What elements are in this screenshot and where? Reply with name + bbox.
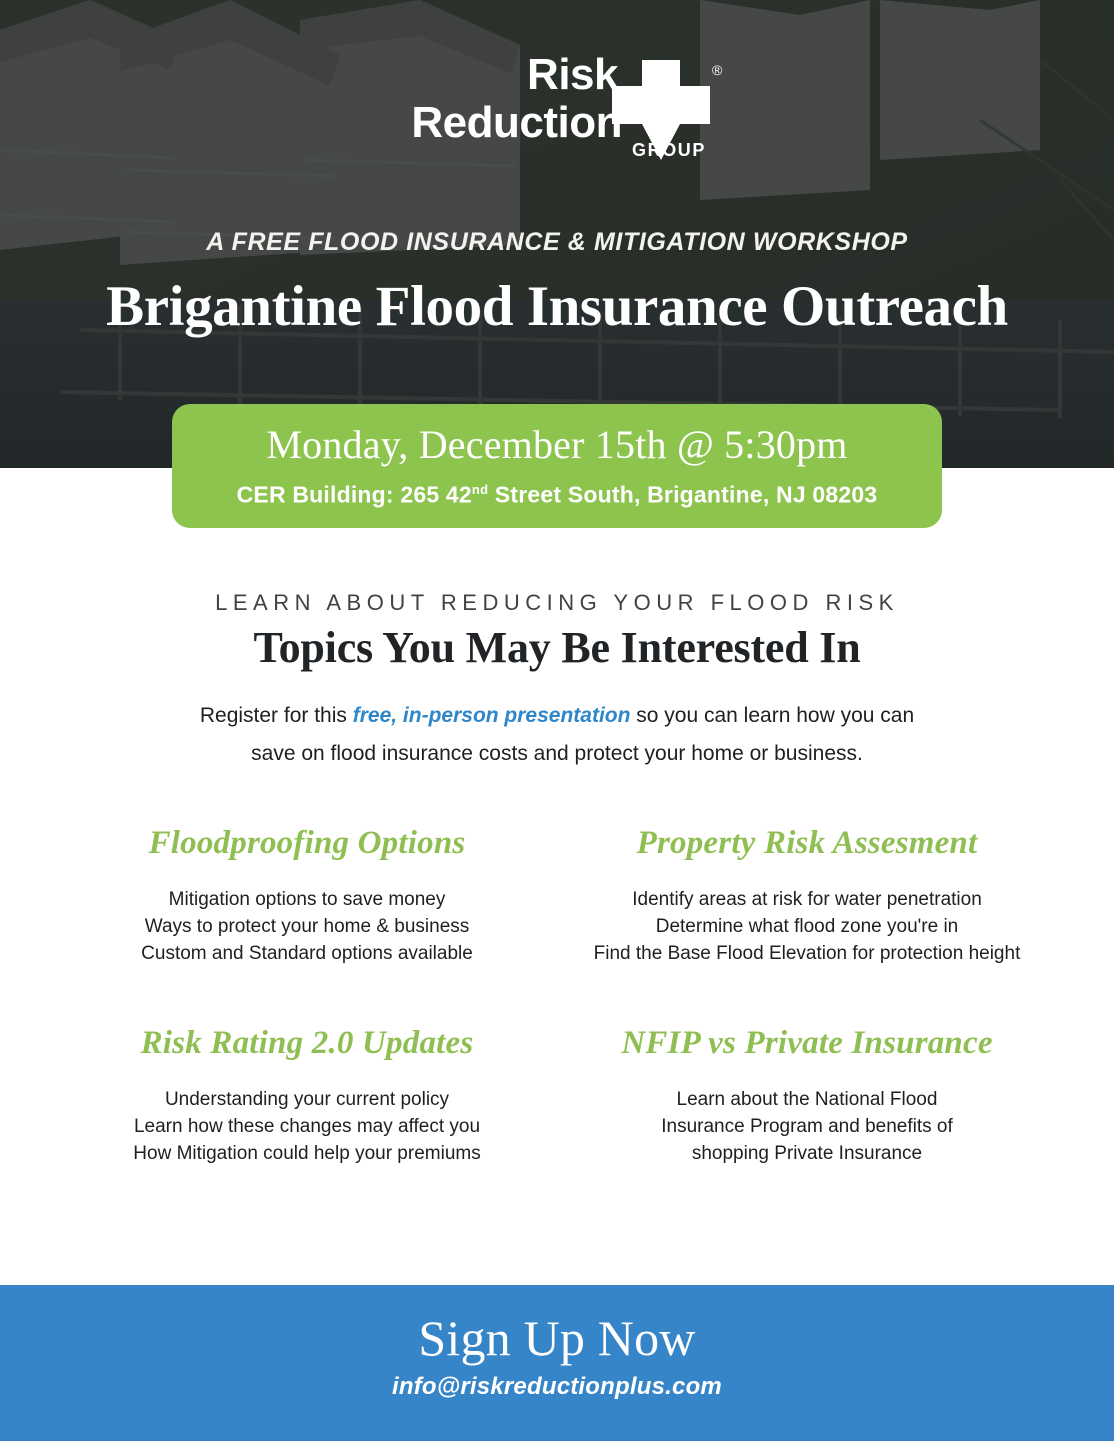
topic-line: Learn about the National Flood	[571, 1086, 1043, 1113]
topic-title: NFIP vs Private Insurance	[571, 1025, 1043, 1062]
topic-bullets: Understanding your current policy Learn …	[71, 1086, 543, 1167]
signup-footer: Sign Up Now info@riskreductionplus.com	[0, 1285, 1114, 1441]
page-title: Brigantine Flood Insurance Outreach	[0, 274, 1114, 340]
brand-logo: Risk Reduction ® GROUP	[0, 52, 1114, 172]
topic-line: Find the Base Flood Elevation for protec…	[571, 940, 1043, 967]
topic-line: Identify areas at risk for water penetra…	[571, 886, 1043, 913]
topic-property-risk-assesment: Property Risk Assesment Identify areas a…	[557, 825, 1057, 967]
logo-line-reduction: Reduction	[372, 100, 624, 146]
intro-paragraph: Register for this free, in-person presen…	[177, 697, 937, 773]
topic-line: Understanding your current policy	[71, 1086, 543, 1113]
venue-suffix: Street South, Brigantine, NJ 08203	[488, 482, 877, 508]
registered-trademark-icon: ®	[712, 62, 722, 78]
section-eyebrow: LEARN ABOUT REDUCING YOUR FLOOD RISK	[0, 590, 1114, 616]
event-date: Monday, December 15th @ 5:30pm	[172, 420, 942, 470]
topic-bullets: Mitigation options to save money Ways to…	[71, 886, 543, 967]
topic-line: Insurance Program and benefits of	[571, 1113, 1043, 1140]
venue-ordinal: nd	[472, 482, 488, 497]
topic-risk-rating-2-0-updates: Risk Rating 2.0 Updates Understanding yo…	[57, 1025, 557, 1167]
hero-banner: Risk Reduction ® GROUP A FREE FLOOD INSU…	[0, 0, 1114, 468]
topic-line: How Mitigation could help your premiums	[71, 1140, 543, 1167]
contact-email-link[interactable]: info@riskreductionplus.com	[392, 1373, 722, 1401]
intro-highlight: free, in-person presentation	[353, 704, 631, 727]
topic-line: Mitigation options to save money	[71, 886, 543, 913]
intro-text-before: Register for this	[200, 704, 353, 727]
topic-bullets: Identify areas at risk for water penetra…	[571, 886, 1043, 967]
topic-line: Ways to protect your home & business	[71, 913, 543, 940]
topic-title: Floodproofing Options	[71, 825, 543, 862]
event-date-banner: Monday, December 15th @ 5:30pm CER Build…	[172, 404, 942, 528]
topic-bullets: Learn about the National Flood Insurance…	[571, 1086, 1043, 1167]
hero-kicker: A FREE FLOOD INSURANCE & MITIGATION WORK…	[0, 228, 1114, 257]
event-venue: CER Building: 265 42nd Street South, Bri…	[172, 474, 942, 511]
topic-nfip-vs-private-insurance: NFIP vs Private Insurance Learn about th…	[557, 1025, 1057, 1167]
topic-line: Determine what flood zone you're in	[571, 913, 1043, 940]
section-title: Topics You May Be Interested In	[0, 622, 1114, 673]
topic-title: Property Risk Assesment	[571, 825, 1043, 862]
topics-grid: Floodproofing Options Mitigation options…	[57, 825, 1057, 1167]
topic-line: Custom and Standard options available	[71, 940, 543, 967]
logo-group-label: GROUP	[632, 140, 706, 161]
topic-title: Risk Rating 2.0 Updates	[71, 1025, 543, 1062]
topic-line: shopping Private Insurance	[571, 1140, 1043, 1167]
main-content: LEARN ABOUT REDUCING YOUR FLOOD RISK Top…	[0, 528, 1114, 1167]
signup-title: Sign Up Now	[0, 1309, 1114, 1367]
venue-prefix: CER Building: 265 42	[237, 482, 472, 508]
topic-floodproofing-options: Floodproofing Options Mitigation options…	[57, 825, 557, 967]
logo-line-risk: Risk	[372, 52, 624, 98]
topic-line: Learn how these changes may affect you	[71, 1113, 543, 1140]
flyer-page: Risk Reduction ® GROUP A FREE FLOOD INSU…	[0, 0, 1114, 1441]
